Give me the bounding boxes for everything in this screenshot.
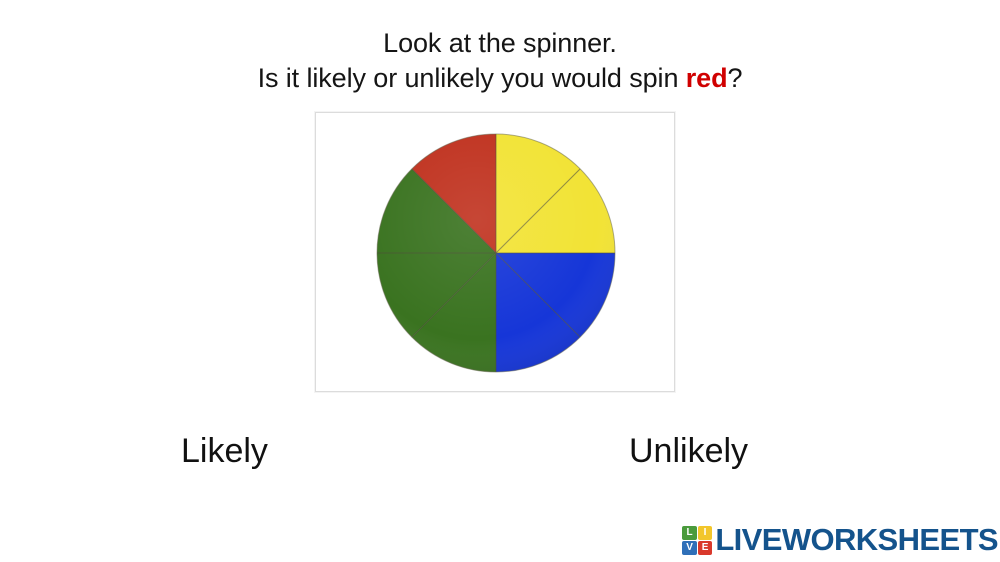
answer-choices: Likely Unlikely: [0, 428, 1000, 474]
logo-tile-e: E: [698, 541, 713, 555]
question-highlight-red: red: [686, 63, 728, 93]
question-prompt: Look at the spinner. Is it likely or unl…: [0, 26, 1000, 96]
spinner-wheel: [374, 131, 618, 375]
answer-option-unlikely[interactable]: Unlikely: [629, 428, 748, 474]
spinner-image-frame: [315, 112, 675, 392]
logo-tile-i: I: [698, 526, 713, 540]
question-line-2: Is it likely or unlikely you would spin …: [0, 61, 1000, 96]
question-line-2-before: Is it likely or unlikely you would spin: [258, 63, 686, 93]
logo-wordmark: LIVEWORKSHEETS: [715, 523, 998, 557]
answer-option-likely[interactable]: Likely: [181, 428, 268, 474]
logo-tile-v: V: [682, 541, 697, 555]
liveworksheets-logo: L I V E LIVEWORKSHEETS: [682, 522, 998, 558]
spinner-shading: [377, 134, 615, 372]
logo-tile-l: L: [682, 526, 697, 540]
question-line-1: Look at the spinner.: [0, 26, 1000, 61]
spinner-wrap: [316, 113, 674, 391]
logo-tile-grid: L I V E: [682, 526, 712, 555]
question-line-2-after: ?: [727, 63, 742, 93]
